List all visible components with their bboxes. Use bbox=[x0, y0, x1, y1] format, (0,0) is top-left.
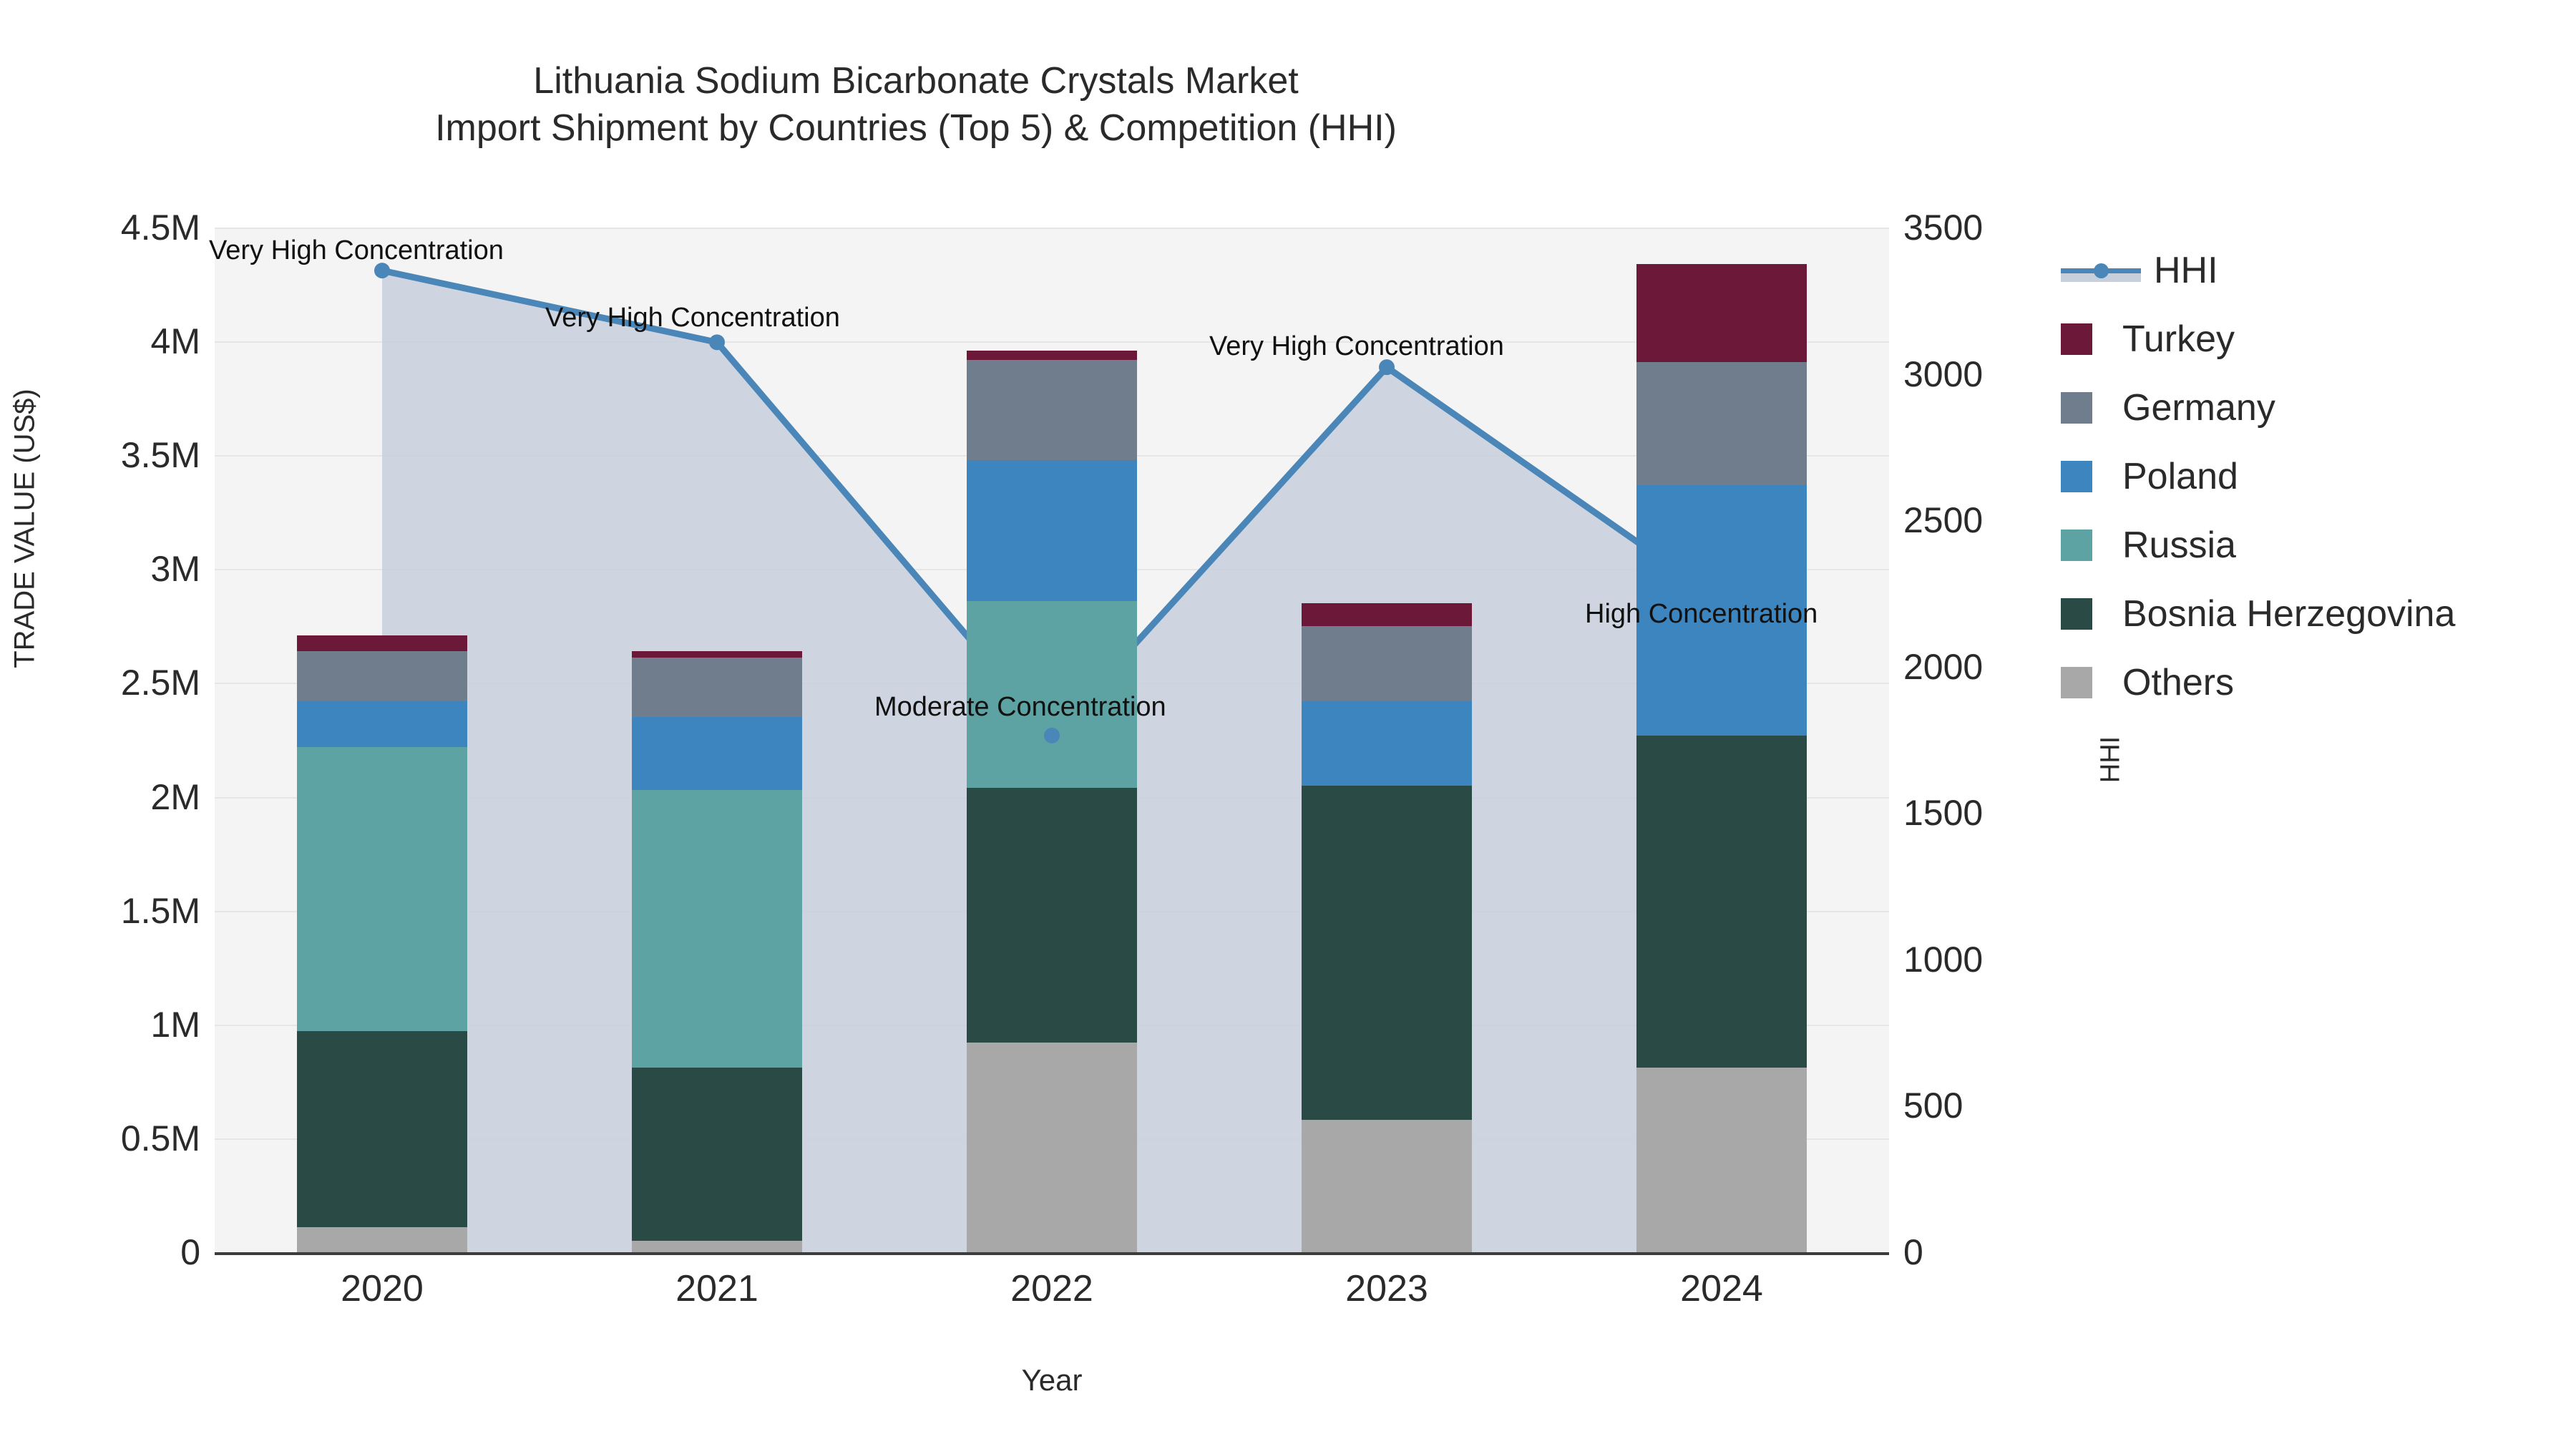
y-axis-label: TRADE VALUE (US$) bbox=[9, 328, 42, 729]
legend-item[interactable]: Russia bbox=[2061, 511, 2576, 580]
legend-line-icon bbox=[2061, 255, 2141, 286]
y-axis-tick-label: 2M bbox=[0, 779, 200, 815]
concentration-annotation: Moderate Concentration bbox=[874, 693, 1166, 721]
legend-color-swatch bbox=[2061, 667, 2092, 698]
legend-item-label: Bosnia Herzegovina bbox=[2122, 595, 2455, 633]
y-axis-tick-label: 1.5M bbox=[0, 893, 200, 929]
legend-color-swatch bbox=[2061, 598, 2092, 630]
bar-segment[interactable] bbox=[1302, 786, 1472, 1121]
x-axis-tick-label: 2021 bbox=[574, 1270, 860, 1307]
x-axis-line bbox=[215, 1252, 1889, 1255]
y-axis-tick-label: 0 bbox=[0, 1234, 200, 1270]
legend-item[interactable]: Poland bbox=[2061, 442, 2576, 511]
bar-segment[interactable] bbox=[297, 701, 467, 747]
y-axis-tick-label: 0.5M bbox=[0, 1121, 200, 1156]
x-axis-tick-label: 2023 bbox=[1244, 1270, 1530, 1307]
legend-item[interactable]: HHI bbox=[2061, 236, 2576, 305]
bar-segment[interactable] bbox=[297, 635, 467, 651]
chart-title: Lithuania Sodium Bicarbonate Crystals Ma… bbox=[0, 57, 1832, 152]
x-axis-label: Year bbox=[215, 1363, 1889, 1397]
legend-item[interactable]: Others bbox=[2061, 648, 2576, 717]
y2-axis-tick-label: 0 bbox=[1903, 1234, 2118, 1270]
bar-segment[interactable] bbox=[967, 351, 1137, 360]
bar-segment[interactable] bbox=[967, 1043, 1137, 1252]
y2-axis-tick-label: 500 bbox=[1903, 1088, 2118, 1123]
concentration-annotation: Very High Concentration bbox=[209, 236, 504, 265]
legend-item-label: HHI bbox=[2154, 252, 2218, 289]
bar-segment[interactable] bbox=[967, 360, 1137, 460]
bar-segment[interactable] bbox=[632, 790, 802, 1068]
bar-segment[interactable] bbox=[1302, 626, 1472, 701]
bar-segment[interactable] bbox=[297, 1031, 467, 1227]
bar-segment[interactable] bbox=[632, 658, 802, 717]
concentration-annotation: Very High Concentration bbox=[1209, 332, 1504, 361]
y2-axis-tick-label: 1500 bbox=[1903, 795, 2118, 831]
bar-segment[interactable] bbox=[632, 717, 802, 790]
x-axis-tick-label: 2024 bbox=[1579, 1270, 1865, 1307]
bar-segment[interactable] bbox=[1302, 603, 1472, 626]
bar-segment[interactable] bbox=[1636, 736, 1807, 1068]
bar-segment[interactable] bbox=[297, 1227, 467, 1252]
bar-segment[interactable] bbox=[967, 788, 1137, 1043]
legend-color-swatch bbox=[2061, 530, 2092, 561]
legend-item-label: Others bbox=[2122, 664, 2234, 701]
y-axis-tick-label: 1M bbox=[0, 1007, 200, 1043]
bar-segment[interactable] bbox=[1636, 264, 1807, 362]
x-axis-tick-label: 2022 bbox=[909, 1270, 1195, 1307]
legend-item[interactable]: Turkey bbox=[2061, 305, 2576, 374]
chart-legend: HHITurkeyGermanyPolandRussiaBosnia Herze… bbox=[2061, 236, 2576, 717]
legend-item-label: Russia bbox=[2122, 527, 2236, 564]
legend-color-swatch bbox=[2061, 392, 2092, 424]
legend-item[interactable]: Bosnia Herzegovina bbox=[2061, 580, 2576, 648]
chart-canvas: Lithuania Sodium Bicarbonate Crystals Ma… bbox=[0, 0, 2576, 1449]
bar-segment[interactable] bbox=[1636, 362, 1807, 485]
y2-axis-tick-label: 1000 bbox=[1903, 942, 2118, 977]
concentration-annotation: High Concentration bbox=[1585, 600, 1818, 628]
bar-segment[interactable] bbox=[297, 651, 467, 701]
legend-item[interactable]: Germany bbox=[2061, 374, 2576, 442]
legend-color-swatch bbox=[2061, 323, 2092, 355]
legend-item-label: Turkey bbox=[2122, 321, 2235, 358]
x-axis-tick-label: 2020 bbox=[239, 1270, 525, 1307]
bar-segment[interactable] bbox=[1636, 1068, 1807, 1252]
bar-segment[interactable] bbox=[297, 747, 467, 1032]
concentration-annotation: Very High Concentration bbox=[545, 303, 840, 332]
bar-segment[interactable] bbox=[632, 1241, 802, 1252]
legend-item-label: Poland bbox=[2122, 458, 2238, 495]
legend-color-swatch bbox=[2061, 461, 2092, 492]
legend-item-label: Germany bbox=[2122, 389, 2275, 426]
bar-segment[interactable] bbox=[632, 651, 802, 658]
bar-segment[interactable] bbox=[632, 1068, 802, 1241]
bar-segment[interactable] bbox=[1302, 1120, 1472, 1252]
bar-segment[interactable] bbox=[1302, 701, 1472, 786]
bar-segment[interactable] bbox=[967, 460, 1137, 601]
y-axis-tick-label: 4.5M bbox=[0, 210, 200, 245]
